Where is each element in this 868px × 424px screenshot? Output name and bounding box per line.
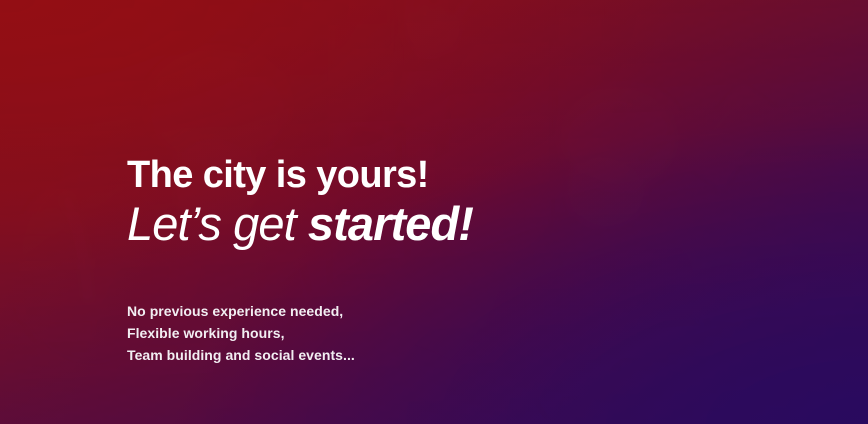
bullet-item-3: Team building and social events... <box>127 344 355 366</box>
headline-line-2-lead: Let’s get <box>127 197 308 250</box>
hero-bullet-list: No previous experience needed, Flexible … <box>127 300 355 366</box>
hero-banner: The city is yours! Let’s get started! No… <box>0 0 868 424</box>
headline-line-1: The city is yours! <box>127 155 827 195</box>
bullet-item-2: Flexible working hours, <box>127 322 355 344</box>
headline-line-2-emphasis: started! <box>308 197 473 250</box>
headline-line-2: Let’s get started! <box>127 199 827 249</box>
hero-content: The city is yours! Let’s get started! No… <box>127 0 827 424</box>
bullet-item-1: No previous experience needed, <box>127 300 355 322</box>
hero-headline: The city is yours! Let’s get started! <box>127 155 827 249</box>
